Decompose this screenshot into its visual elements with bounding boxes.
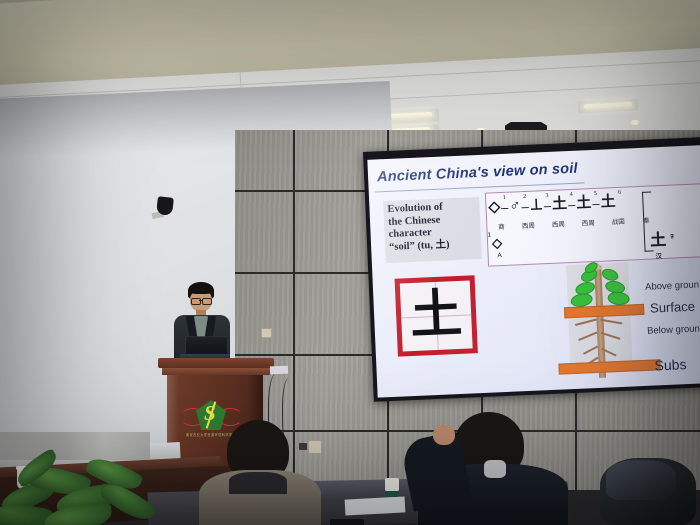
surface-soil-bar	[564, 304, 644, 318]
variant-glyph-number: 1	[488, 232, 492, 238]
ceiling-downlight-5	[629, 120, 641, 125]
potted-plant	[0, 455, 165, 525]
label-subsoil: Subs	[654, 356, 687, 373]
glyph-2: ♂2	[509, 199, 521, 214]
era-2: 西周	[513, 219, 543, 230]
table-cup-base	[385, 491, 399, 497]
han-glyph-group-2: 土 9 汉	[650, 226, 675, 261]
audience-right-collar	[484, 460, 506, 478]
evolution-caption-box: Evolution of the Chinese character “soil…	[383, 197, 482, 263]
wall-outlet-3[interactable]	[261, 328, 272, 338]
podium-paper	[270, 366, 288, 375]
calligraphy-character: 土	[400, 288, 472, 343]
variant-glyph-label: A	[493, 252, 507, 260]
era-1: 商	[489, 221, 513, 232]
glyph-4: 土4	[552, 197, 568, 213]
table-paper-1	[345, 496, 406, 515]
speaker-fringe	[189, 286, 213, 294]
audience-member-right	[410, 412, 570, 525]
glyph-1: ◇1	[488, 200, 500, 215]
audience-chair-highlight	[606, 460, 676, 500]
audience-left-collar	[229, 472, 287, 494]
era-4: 西周	[573, 217, 603, 228]
glyph-5: 土5	[576, 196, 592, 212]
label-above-ground: Above groun	[645, 279, 699, 292]
era-3: 西周	[543, 218, 573, 229]
slide-title: Ancient China's view on soil	[377, 161, 578, 186]
label-below-ground: Below ground	[647, 323, 700, 337]
variant-glyph-group: ◇ 1 A	[492, 233, 533, 260]
glyph-3: ⊥3	[529, 198, 543, 214]
audience-right-hand	[433, 425, 455, 445]
glasses-icon-right	[202, 298, 212, 305]
glasses-bridge	[199, 300, 202, 301]
soil-profile-diagram: Above groun Surface Below ground Subs	[560, 257, 700, 383]
calligraphy-box: 土	[395, 275, 478, 356]
podium-bevel	[162, 368, 270, 375]
han-glyph-2-number: 9	[670, 234, 674, 240]
table-phone[interactable]	[330, 519, 364, 525]
glyph-6: 土6	[600, 195, 616, 211]
character-evolution-panel: ◇1 – ♂2 – ⊥3 – 土4 – 土5 – 土6 商 西周 西周 西周	[485, 183, 700, 267]
han-glyph-2: 土	[650, 232, 667, 250]
projection-screen[interactable]: Ancient China's view on soil Evolution o…	[363, 137, 700, 402]
variant-glyph: ◇	[492, 235, 503, 250]
era-5: 战国	[603, 215, 633, 226]
audience-member-left	[205, 420, 315, 525]
plant-leaf-6	[43, 502, 113, 525]
label-surface: Surface	[650, 299, 695, 316]
slide-content: Ancient China's view on soil Evolution o…	[367, 145, 700, 398]
podium-top	[158, 358, 274, 368]
lecture-room-photo: Ancient China's view on soil Evolution o…	[0, 0, 700, 525]
